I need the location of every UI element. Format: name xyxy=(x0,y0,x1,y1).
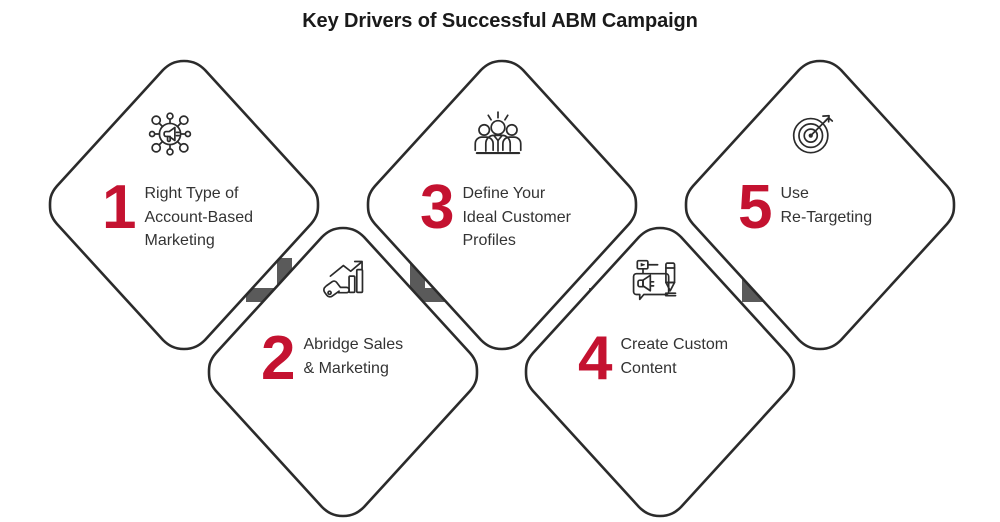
step-number-5: 5 xyxy=(738,176,770,240)
step-number-1: 1 xyxy=(102,176,134,240)
step-number-4: 4 xyxy=(578,327,610,391)
step-number-2: 2 xyxy=(261,327,293,391)
bullseye-target-arrow-icon xyxy=(738,108,1000,166)
page-title: Key Drivers of Successful ABM Campaign xyxy=(0,8,1000,34)
infographic-canvas: Key Drivers of Successful ABM Campaign xyxy=(0,0,1000,522)
step-card-5[interactable]: 5 Use Re-Targeting xyxy=(680,58,960,352)
step-number-3: 3 xyxy=(420,176,452,240)
step-label-5: Use Re-Targeting xyxy=(780,176,872,229)
